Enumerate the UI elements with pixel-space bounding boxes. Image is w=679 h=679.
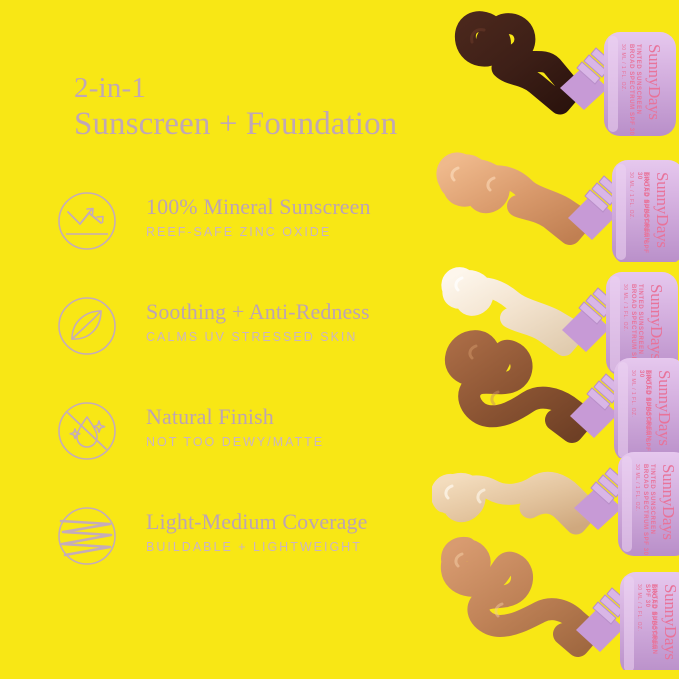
feature-subtitle: NOT TOO DEWY/MATTE xyxy=(146,435,476,449)
feature-title: Soothing + Anti-Redness xyxy=(146,299,476,325)
product-tube: SunnyDays BROAD SPECTRUM SPF 30 TINTED S… xyxy=(432,520,679,660)
feature-title: Light-Medium Coverage xyxy=(146,509,476,535)
product-tube: SunnyDays BROAD SPECTRUM SPF 30 TINTED S… xyxy=(432,122,679,262)
coverage-strokes-icon xyxy=(56,505,118,567)
headline-line-1: 2-in-1 xyxy=(74,72,494,104)
product-tube-column: SunnyDays BROAD SPECTRUM SPF 30 TINTED S… xyxy=(432,0,679,679)
swatch-light-beige xyxy=(441,482,588,524)
feature-subtitle: REEF-SAFE ZINC OXIDE xyxy=(146,225,476,239)
headline-line-2: Sunscreen + Foundation xyxy=(74,106,494,143)
feature-item: Light-Medium Coverage BUILDABLE + LIGHTW… xyxy=(50,503,470,608)
swatch-espresso xyxy=(465,22,572,104)
swatch-caramel-tan xyxy=(452,548,590,646)
feature-subtitle: BUILDABLE + LIGHTWEIGHT xyxy=(146,540,476,554)
no-dewy-droplet-icon xyxy=(56,400,118,462)
uv-deflect-icon xyxy=(56,190,118,252)
page-title: 2-in-1 Sunscreen + Foundation xyxy=(74,72,494,143)
feature-subtitle: CALMS UV STRESSED SKIN xyxy=(146,330,476,344)
tube-body xyxy=(620,572,679,670)
tube-body xyxy=(612,160,679,262)
feature-title: 100% Mineral Sunscreen xyxy=(146,194,476,220)
feature-item: Natural Finish NOT TOO DEWY/MATTE xyxy=(50,398,470,503)
feature-item: 100% Mineral Sunscreen REEF-SAFE ZINC OX… xyxy=(50,188,470,293)
leaf-icon xyxy=(56,295,118,357)
feature-item: Soothing + Anti-Redness CALMS UV STRESSE… xyxy=(50,293,470,398)
product-infographic: 2-in-1 Sunscreen + Foundation 100% Miner… xyxy=(0,0,679,679)
swatch-deep-brown xyxy=(456,341,584,432)
feature-title: Natural Finish xyxy=(146,404,476,430)
swatch-medium-tan xyxy=(447,163,582,234)
feature-list: 100% Mineral Sunscreen REEF-SAFE ZINC OX… xyxy=(50,188,470,608)
tube-body xyxy=(604,32,676,136)
